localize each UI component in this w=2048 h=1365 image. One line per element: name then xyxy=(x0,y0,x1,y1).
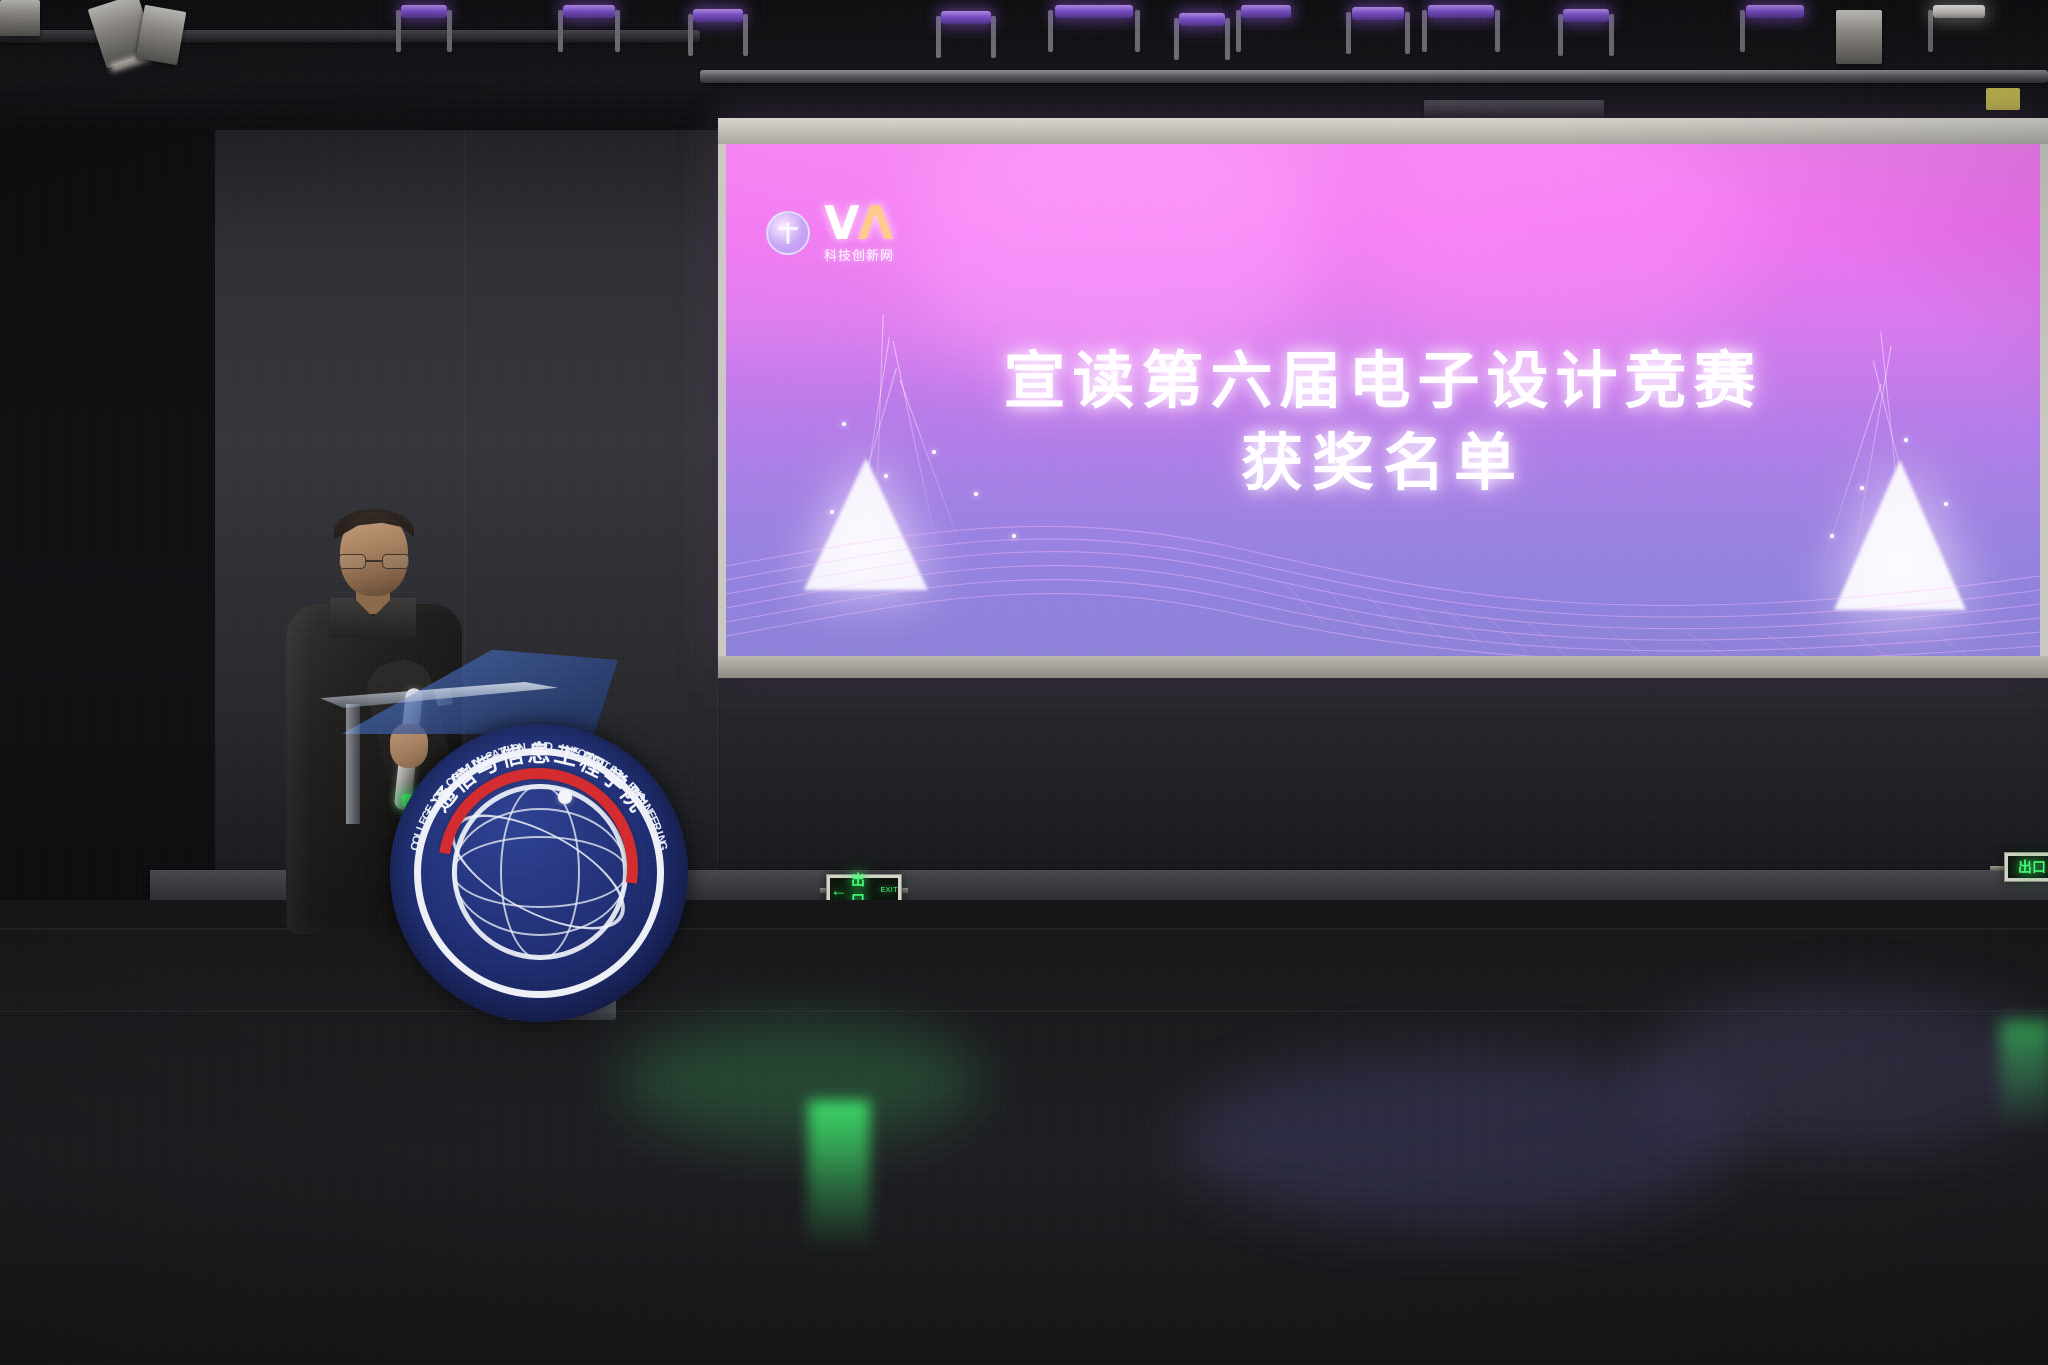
glasses-lens-left xyxy=(338,554,366,569)
slide-glow-2 xyxy=(1366,144,1746,364)
fixture-arm-left xyxy=(1346,12,1351,54)
fixture-lens xyxy=(401,5,447,18)
emblem-text-glyph: G xyxy=(655,840,669,852)
slide-title-line-1: 宣读第六届电子设计竞赛 xyxy=(1003,344,1762,417)
fixture-lens xyxy=(1179,13,1225,26)
moving-head-light-11 xyxy=(1742,0,1808,92)
emblem-text-glyph: D xyxy=(544,741,554,754)
floor-reflection-right xyxy=(1640,990,2048,1150)
logo-accent-glyph: Λ xyxy=(858,196,892,250)
emblem-english-text: COLLEGE OF COMMUNICATION AND INFORMATION… xyxy=(390,724,688,1022)
fixture-arm-left xyxy=(558,10,563,52)
exit-sign-face: ← 出口 EXIT xyxy=(830,878,898,902)
fixture-arm-right xyxy=(1609,14,1614,56)
fixture-arm-left xyxy=(1558,14,1563,56)
moving-head-light-2 xyxy=(560,0,618,96)
fixture-lens xyxy=(693,9,742,22)
moving-head-light-6 xyxy=(1176,8,1228,92)
fixture-arm-left xyxy=(1236,10,1241,52)
fixture-lens xyxy=(1241,5,1290,18)
par-can-light-3 xyxy=(0,0,40,36)
fixture-arm-left xyxy=(396,10,401,52)
moving-head-light-3 xyxy=(690,4,746,90)
network-dot xyxy=(932,450,936,454)
network-dot xyxy=(1904,438,1908,442)
fixture-arm-left xyxy=(936,16,941,58)
logo-wordmark-text: VΛ xyxy=(824,202,891,244)
exit-sign-right[interactable]: 出口 xyxy=(2004,852,2048,882)
projection-screen-frame: VΛ 科技创新网 宣读第六届电子设计竞赛 获奖名单 xyxy=(718,118,2048,678)
logo-subtext: 科技创新网 xyxy=(824,245,894,264)
moving-head-light-8 xyxy=(1348,2,1408,98)
fixture-arm-right xyxy=(447,10,452,52)
college-emblem: 通信与信息工程学院 COLLEGE OF COMMUNICATION AND I… xyxy=(390,724,688,1022)
moving-head-light-1 xyxy=(398,0,450,84)
slide-logo-wordmark: VΛ 科技创新网 xyxy=(824,202,894,264)
moving-head-light-7 xyxy=(1238,0,1294,78)
rig-warning-tag xyxy=(1986,88,2020,110)
moving-head-light-4 xyxy=(938,6,994,102)
slide-logo: VΛ 科技创新网 xyxy=(766,202,894,264)
fixture-arm-left xyxy=(1174,18,1179,60)
fixture-arm-right xyxy=(1405,12,1410,54)
network-dot xyxy=(842,422,846,426)
moving-head-light-12 xyxy=(1930,0,1988,78)
fixture-arm-right xyxy=(991,16,996,58)
stage-scene: VΛ 科技创新网 宣读第六届电子设计竞赛 获奖名单 xyxy=(0,0,2048,1365)
fixture-arm-left xyxy=(1048,10,1053,52)
par-can-light-4 xyxy=(1836,10,1882,64)
exit-arrow-icon: ← xyxy=(830,881,848,899)
fixture-arm-right xyxy=(743,14,748,56)
glasses-lens-right xyxy=(382,554,410,569)
exit-sign-floor-reflection-right xyxy=(2000,1020,2048,1130)
exit-sign-floor-reflection xyxy=(808,1100,870,1250)
lectern-support-stem xyxy=(346,704,360,824)
fixture-arm-right xyxy=(1495,10,1500,52)
fixture-lens xyxy=(1352,7,1405,20)
projected-slide: VΛ 科技创新网 宣读第六届电子设计竞赛 获奖名单 xyxy=(726,144,2040,656)
fixture-arm-right xyxy=(615,10,620,52)
par-can-light-2 xyxy=(136,5,187,65)
fixture-lens xyxy=(1933,5,1984,18)
glasses-bridge xyxy=(366,560,382,562)
moving-head-light-9 xyxy=(1424,0,1498,110)
exit-label-cn: 出口 xyxy=(2018,857,2046,877)
floor-reflection-purple xyxy=(1180,1050,1740,1230)
fixture-lens xyxy=(1563,9,1609,22)
fixture-arm-left xyxy=(688,14,693,56)
fixture-lens xyxy=(1428,5,1493,18)
moving-head-light-10 xyxy=(1560,4,1612,88)
fixture-lens xyxy=(941,11,990,24)
fixture-arm-left xyxy=(1928,10,1933,52)
lighting-truss-zone xyxy=(0,0,2048,130)
exit-sign-face: 出口 xyxy=(2008,856,2048,878)
globe-emblem-icon xyxy=(766,211,810,255)
exit-label-en: EXIT xyxy=(880,887,898,894)
moving-head-light-5 xyxy=(1050,0,1138,124)
fixture-arm-right xyxy=(1135,10,1140,52)
fixture-arm-right xyxy=(1225,18,1230,60)
fixture-lens xyxy=(563,5,614,18)
projector-mount-shelf xyxy=(1424,100,1604,118)
screen-bottom-bar xyxy=(718,656,2048,678)
fixture-arm-left xyxy=(1740,10,1745,52)
fixture-lens xyxy=(1746,5,1804,18)
fixture-lens xyxy=(1055,5,1132,18)
wave-mesh xyxy=(726,476,2040,656)
glasses-icon xyxy=(338,554,410,570)
floor-reflection-green xyxy=(620,1020,980,1140)
fixture-arm-left xyxy=(1422,10,1427,52)
screen-top-bar xyxy=(718,118,2048,144)
emblem-text-glyph: N xyxy=(517,742,527,755)
